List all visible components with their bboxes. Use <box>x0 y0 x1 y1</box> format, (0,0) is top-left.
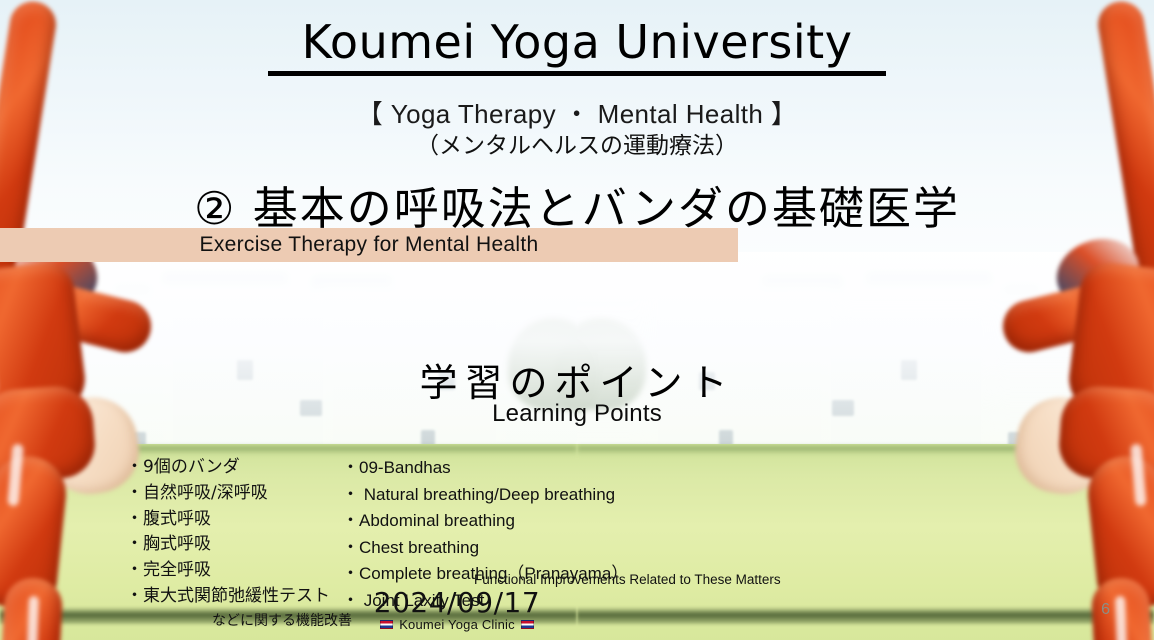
slide: Koumei Yoga University 【 Yoga Therapy ・ … <box>0 0 1154 640</box>
page-title: Koumei Yoga University <box>268 18 887 76</box>
slide-content: Koumei Yoga University 【 Yoga Therapy ・ … <box>0 0 1154 640</box>
slide-date: 2024/09/17 <box>0 586 1034 619</box>
title-container: Koumei Yoga University <box>0 18 1154 76</box>
page-number: 6 <box>1101 601 1110 619</box>
clinic-name: Koumei Yoga Clinic <box>399 617 515 632</box>
flag-icon <box>521 620 534 629</box>
list-item: ・自然呼吸/深呼吸 <box>126 481 356 507</box>
clinic-footer: Koumei Yoga Clinic <box>0 617 1034 632</box>
list-item: ・Chest breathing <box>342 535 772 562</box>
list-item: ・ Natural breathing/Deep breathing <box>342 482 772 509</box>
band-label: Exercise Therapy for Mental Health <box>0 229 738 261</box>
learning-points-heading-jp: 学習のポイント <box>0 352 1154 407</box>
list-item: ・腹式呼吸 <box>126 507 356 533</box>
flag-icon <box>380 620 393 629</box>
list-item: ・Abdominal breathing <box>342 508 772 535</box>
list-item: ・胸式呼吸 <box>126 532 356 558</box>
functional-improvements-note: Functional Improvements Related to These… <box>474 572 781 587</box>
list-item: ・完全呼吸 <box>126 558 356 584</box>
list-item: ・9個のバンダ <box>126 455 356 481</box>
learning-points-heading-en: Learning Points <box>0 400 1154 428</box>
list-item: ・09-Bandhas <box>342 455 772 482</box>
subtitle-japanese: （メンタルヘルスの運動療法） <box>0 126 1154 160</box>
